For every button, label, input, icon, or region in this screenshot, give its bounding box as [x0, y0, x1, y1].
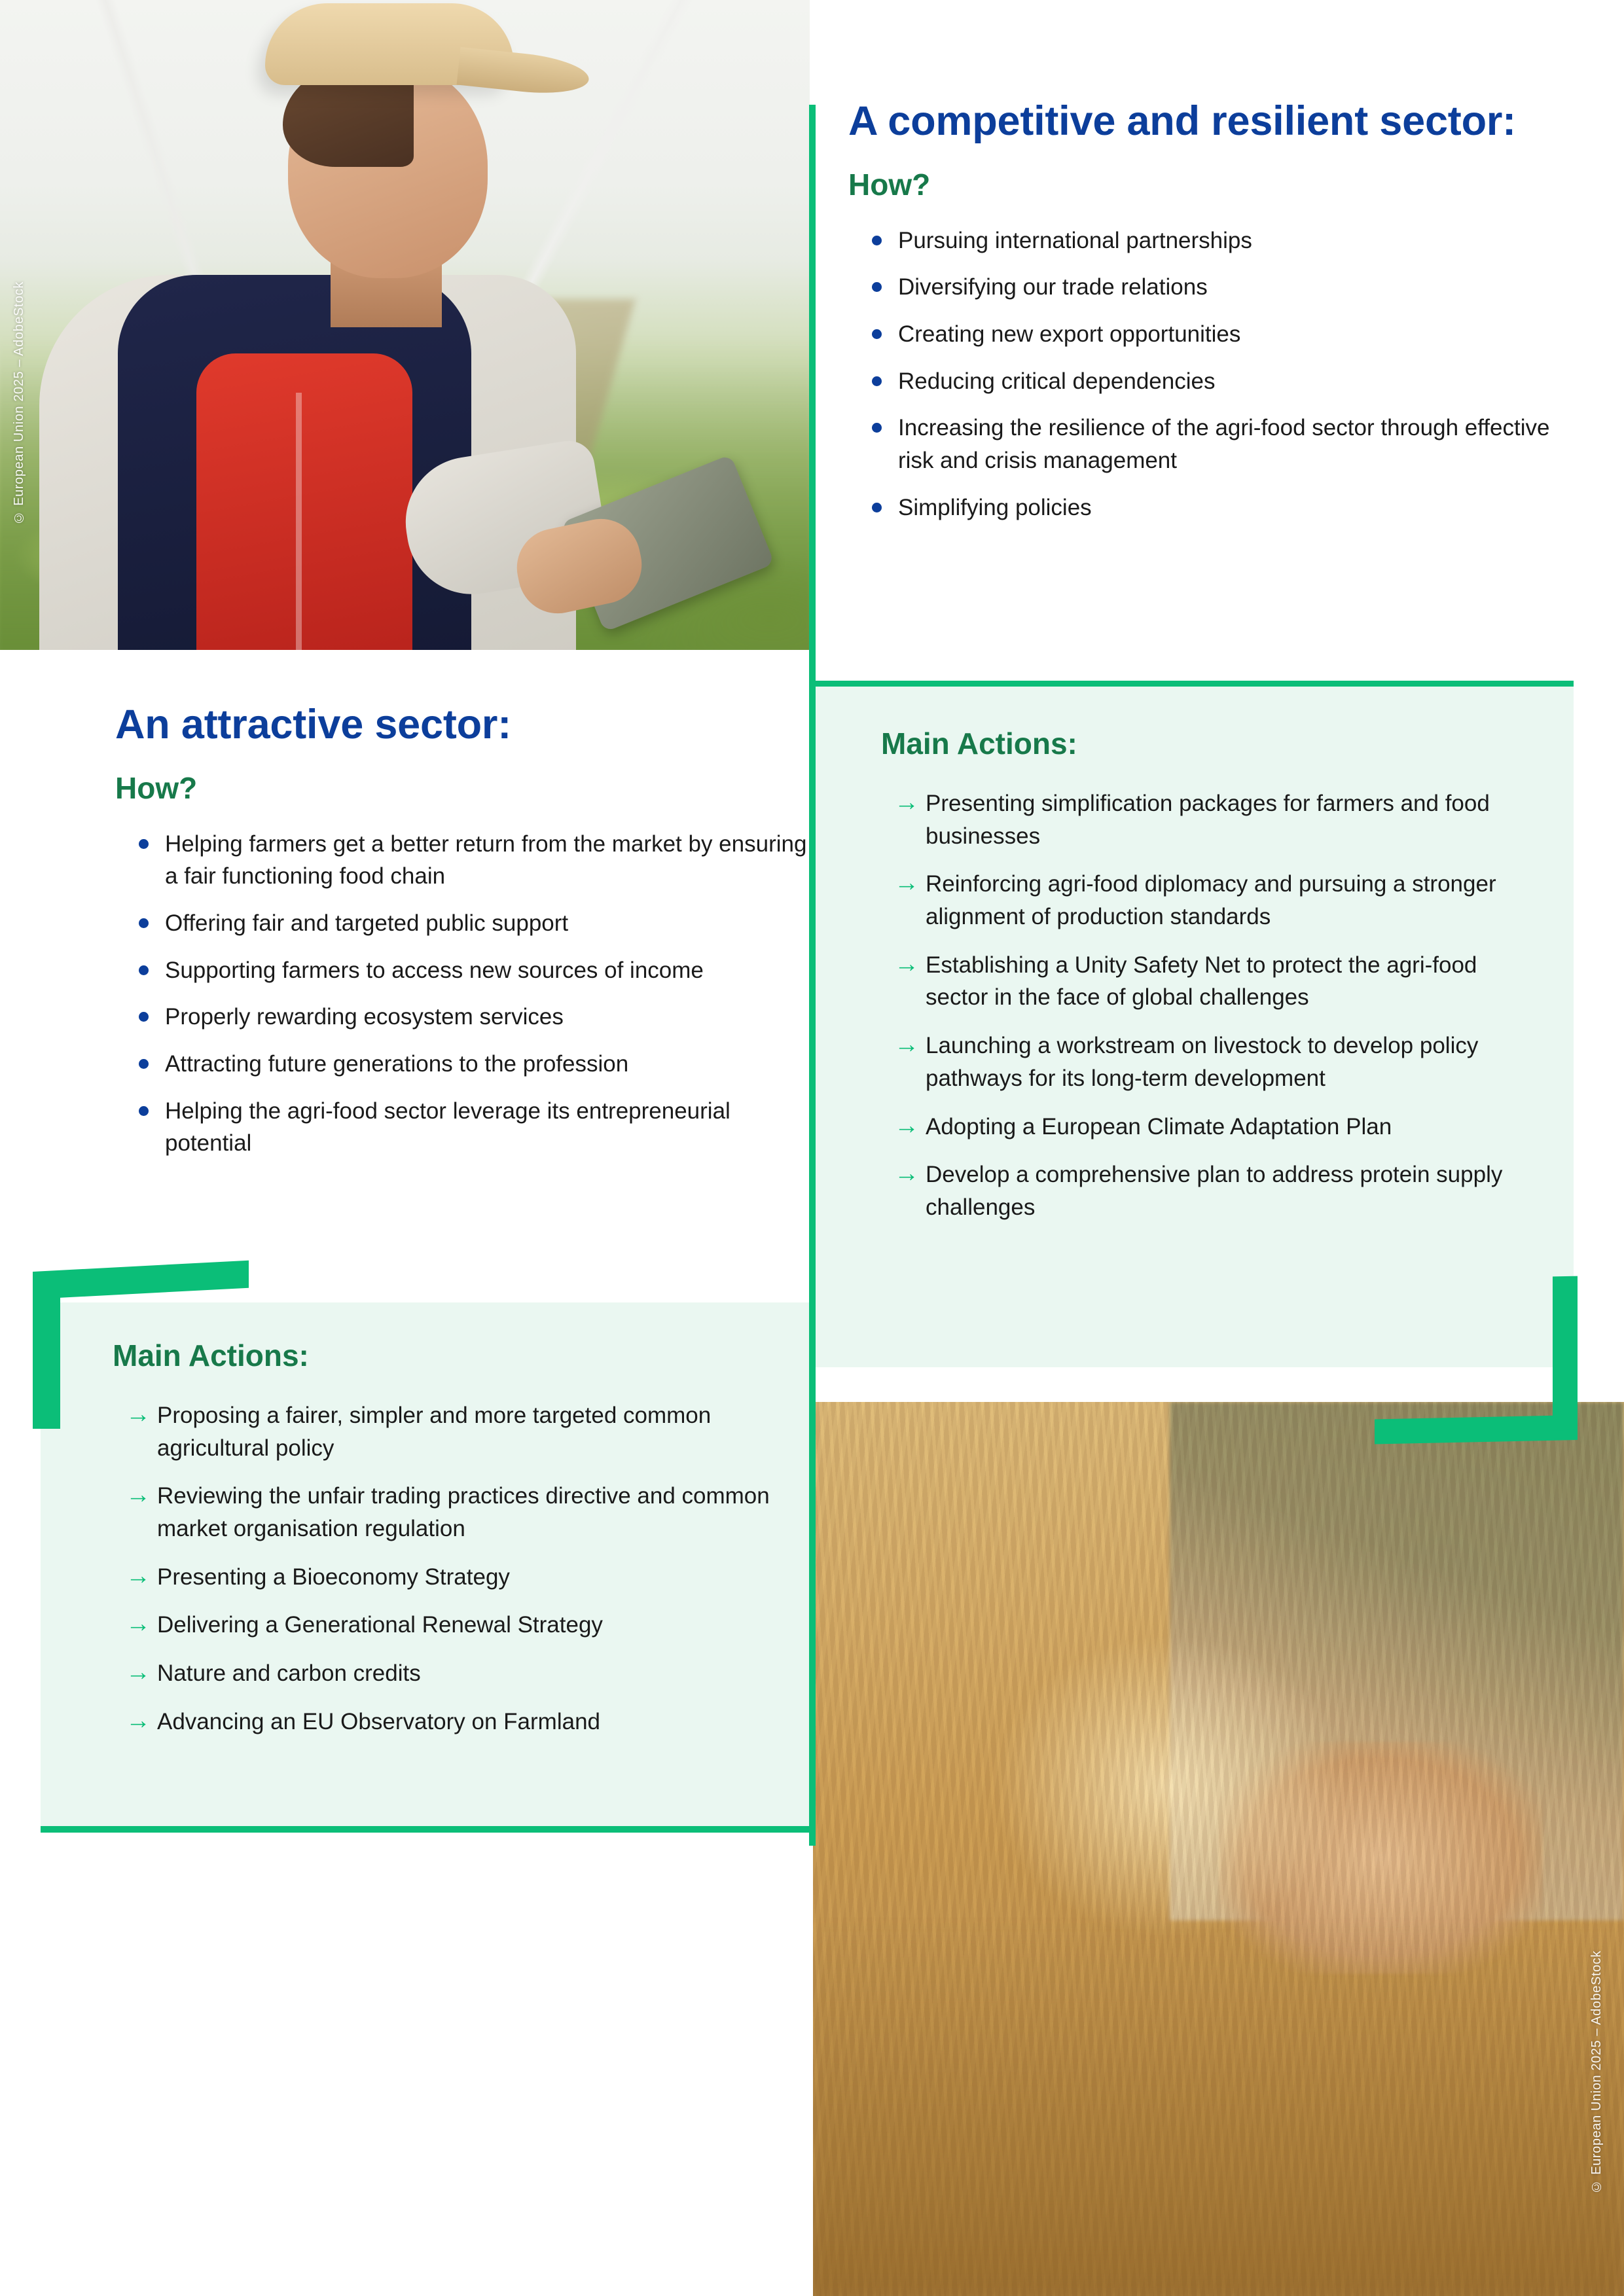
- right-column: A competitive and resilient sector: How?…: [848, 98, 1568, 538]
- wheat-field-photo: [813, 1402, 1624, 2296]
- left-main-actions-label: Main Actions:: [113, 1338, 774, 1373]
- arrow-right-icon: →: [894, 786, 919, 819]
- list-item-text: Increasing the resilience of the agri-fo…: [898, 415, 1549, 473]
- list-item-text: Properly rewarding ecosystem services: [165, 1004, 564, 1030]
- list-item: → Presenting a Bioeconomy Strategy: [157, 1561, 774, 1594]
- vertical-divider: [809, 105, 816, 1846]
- arrow-right-icon: →: [126, 1656, 151, 1689]
- bullet-dot-icon: [872, 282, 882, 292]
- bullet-dot-icon: [139, 918, 149, 928]
- list-item-text: Proposing a fairer, simpler and more tar…: [157, 1403, 711, 1461]
- right-panel-top-rule: [816, 681, 1574, 687]
- right-main-actions-panel: Main Actions: → Presenting simplificatio…: [816, 687, 1574, 1367]
- list-item: Supporting farmers to access new sources…: [165, 954, 809, 987]
- bullet-dot-icon: [872, 236, 882, 245]
- arrow-right-icon: →: [894, 1109, 919, 1143]
- left-section-title: An attractive sector:: [115, 702, 809, 748]
- list-item: Creating new export opportunities: [898, 318, 1568, 351]
- arrow-right-icon: →: [894, 1028, 919, 1062]
- left-main-actions-list: → Proposing a fairer, simpler and more t…: [113, 1399, 774, 1738]
- list-item-text: Launching a workstream on livestock to d…: [926, 1033, 1478, 1091]
- list-item-text: Reinforcing agri-food diplomacy and purs…: [926, 871, 1496, 929]
- list-item: Helping the agri-food sector leverage it…: [165, 1095, 809, 1160]
- list-item-text: Diversifying our trade relations: [898, 274, 1208, 300]
- wheat-foreground-blur: [813, 1920, 1624, 2296]
- bullet-dot-icon: [139, 1059, 149, 1069]
- list-item: Attracting future generations to the pro…: [165, 1048, 809, 1081]
- right-how-list: Pursuing international partnerships Dive…: [848, 224, 1568, 524]
- left-main-actions-panel: Main Actions: → Proposing a fairer, simp…: [41, 1302, 809, 1833]
- bullet-dot-icon: [872, 503, 882, 512]
- arrow-right-icon: →: [126, 1704, 151, 1738]
- list-item: → Develop a comprehensive plan to addres…: [926, 1158, 1536, 1223]
- list-item: Increasing the resilience of the agri-fo…: [898, 412, 1568, 476]
- bullet-dot-icon: [872, 423, 882, 433]
- list-item-text: Presenting a Bioeconomy Strategy: [157, 1564, 510, 1590]
- right-main-actions-list: → Presenting simplification packages for…: [881, 787, 1536, 1224]
- farmer-figure: [0, 0, 810, 650]
- farmer-cap-brim: [457, 47, 591, 99]
- list-item-text: Develop a comprehensive plan to address …: [926, 1162, 1502, 1220]
- arrow-right-icon: →: [126, 1560, 151, 1593]
- right-main-actions-label: Main Actions:: [881, 726, 1536, 761]
- list-item-text: Nature and carbon credits: [157, 1660, 421, 1686]
- list-item: → Presenting simplification packages for…: [926, 787, 1536, 852]
- list-item-text: Advancing an EU Observatory on Farmland: [157, 1709, 600, 1734]
- list-item-text: Attracting future generations to the pro…: [165, 1051, 628, 1077]
- bullet-dot-icon: [139, 839, 149, 849]
- list-item: → Reinforcing agri-food diplomacy and pu…: [926, 868, 1536, 933]
- right-photo-credit: © European Union 2025 – AdobeStock: [1589, 1950, 1604, 2194]
- farmer-vest-zipper: [296, 393, 302, 650]
- list-item: Helping farmers get a better return from…: [165, 828, 809, 893]
- list-item-text: Establishing a Unity Safety Net to prote…: [926, 952, 1477, 1011]
- list-item-text: Simplifying policies: [898, 495, 1092, 520]
- list-item-text: Delivering a Generational Renewal Strate…: [157, 1612, 603, 1638]
- arrow-right-icon: →: [126, 1398, 151, 1431]
- list-item-text: Pursuing international partnerships: [898, 228, 1252, 253]
- list-item-text: Helping the agri-food sector leverage it…: [165, 1098, 731, 1157]
- list-item-text: Presenting simplification packages for f…: [926, 791, 1490, 849]
- list-item: Offering fair and targeted public suppor…: [165, 907, 809, 940]
- arrow-right-icon: →: [894, 867, 919, 900]
- list-item-text: Reviewing the unfair trading practices d…: [157, 1483, 770, 1541]
- right-section-title: A competitive and resilient sector:: [848, 98, 1568, 145]
- list-item: → Delivering a Generational Renewal Stra…: [157, 1609, 774, 1641]
- list-item: Simplifying policies: [898, 492, 1568, 524]
- bullet-dot-icon: [139, 965, 149, 975]
- bullet-dot-icon: [872, 376, 882, 386]
- list-item-text: Reducing critical dependencies: [898, 368, 1215, 394]
- list-item: → Reviewing the unfair trading practices…: [157, 1480, 774, 1545]
- farmer-vest-red-panel: [196, 353, 412, 650]
- list-item: → Adopting a European Climate Adaptation…: [926, 1111, 1536, 1143]
- list-item: Pursuing international partnerships: [898, 224, 1568, 257]
- arrow-right-icon: →: [894, 1157, 919, 1191]
- bullet-dot-icon: [139, 1012, 149, 1022]
- list-item-text: Supporting farmers to access new sources…: [165, 958, 704, 983]
- list-item: Diversifying our trade relations: [898, 271, 1568, 304]
- list-item: → Advancing an EU Observatory on Farmlan…: [157, 1706, 774, 1738]
- list-item: → Establishing a Unity Safety Net to pro…: [926, 949, 1536, 1014]
- left-how-list: Helping farmers get a better return from…: [115, 828, 809, 1160]
- right-how-label: How?: [848, 167, 1568, 202]
- bullet-dot-icon: [872, 329, 882, 339]
- left-photo-credit: © European Union 2025 – AdobeStock: [12, 281, 27, 525]
- arrow-right-icon: →: [894, 948, 919, 981]
- bullet-dot-icon: [139, 1106, 149, 1116]
- list-item: → Nature and carbon credits: [157, 1657, 774, 1690]
- list-item: → Launching a workstream on livestock to…: [926, 1030, 1536, 1094]
- list-item: Reducing critical dependencies: [898, 365, 1568, 398]
- list-item: → Proposing a fairer, simpler and more t…: [157, 1399, 774, 1464]
- list-item-text: Creating new export opportunities: [898, 321, 1240, 347]
- list-item: Properly rewarding ecosystem services: [165, 1001, 809, 1033]
- arrow-right-icon: →: [126, 1607, 151, 1641]
- list-item-text: Offering fair and targeted public suppor…: [165, 910, 568, 936]
- left-how-label: How?: [115, 770, 809, 806]
- left-column: An attractive sector: How? Helping farme…: [115, 702, 809, 1174]
- list-item-text: Adopting a European Climate Adaptation P…: [926, 1114, 1392, 1139]
- greenhouse-farmer-photo: [0, 0, 810, 650]
- list-item-text: Helping farmers get a better return from…: [165, 831, 806, 889]
- arrow-right-icon: →: [126, 1479, 151, 1512]
